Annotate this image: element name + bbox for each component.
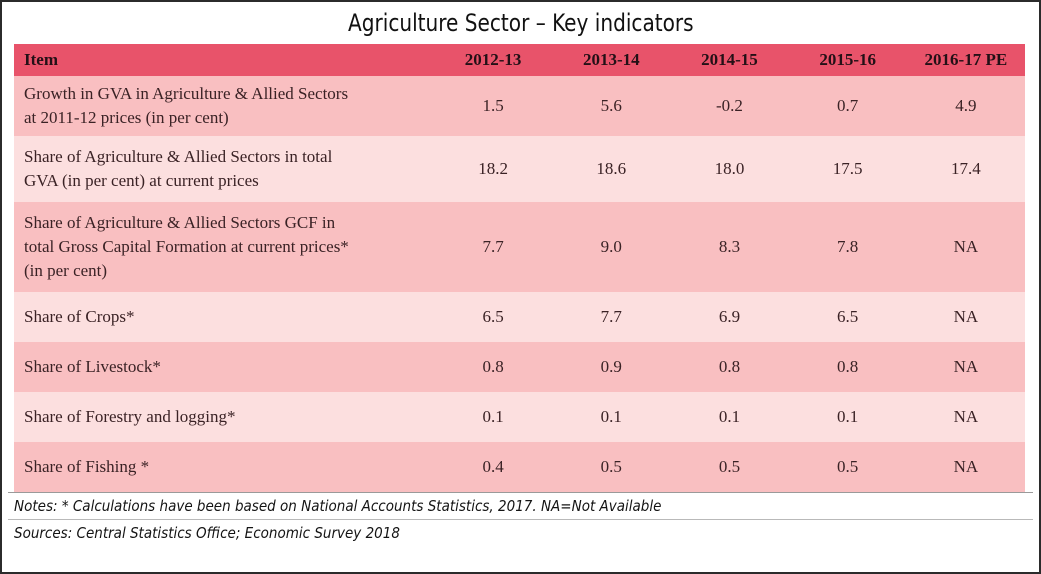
table-body: Growth in GVA in Agriculture & Allied Se… [14,76,1025,492]
notes-row: Notes: * Calculations have been based on… [8,492,1033,519]
cell-value: 0.9 [552,342,670,392]
table-row: Share of Agriculture & Allied Sectors GC… [14,202,1025,292]
row-label-line2: total Gross Capital Formation at current… [24,237,349,256]
table-wrapper: Item 2012-13 2013-14 2014-15 2015-16 201… [2,44,1039,492]
figure-container: Agriculture Sector – Key indicators Item… [0,0,1041,574]
column-header-2014-15: 2014-15 [670,44,788,76]
cell-value: 0.1 [789,392,907,442]
column-header-item: Item [14,44,434,76]
row-label-line2: GVA (in per cent) at current prices [24,171,259,190]
row-label: Share of Livestock* [14,342,434,392]
row-label-line3: (in per cent) [24,261,107,280]
table-row: Share of Crops* 6.5 7.7 6.9 6.5 NA [14,292,1025,342]
sources-text: Sources: Central Statistics Office; Econ… [14,524,400,542]
cell-value: 17.5 [789,136,907,202]
row-label: Share of Crops* [14,292,434,342]
cell-value: 0.5 [789,442,907,492]
table-header: Item 2012-13 2013-14 2014-15 2015-16 201… [14,44,1025,76]
table-row: Share of Forestry and logging* 0.1 0.1 0… [14,392,1025,442]
cell-value: 0.8 [789,342,907,392]
cell-value: 7.7 [552,292,670,342]
cell-value: 5.6 [552,76,670,136]
cell-value: 6.9 [670,292,788,342]
cell-value: 6.5 [434,292,552,342]
cell-value: 0.7 [789,76,907,136]
row-label: Share of Agriculture & Allied Sectors in… [14,136,434,202]
cell-value: 1.5 [434,76,552,136]
column-header-2015-16: 2015-16 [789,44,907,76]
cell-value: 0.8 [434,342,552,392]
column-header-2012-13: 2012-13 [434,44,552,76]
cell-value: 18.2 [434,136,552,202]
cell-value: NA [907,392,1025,442]
cell-value: 7.8 [789,202,907,292]
cell-value: NA [907,292,1025,342]
cell-value: 6.5 [789,292,907,342]
page-title: Agriculture Sector – Key indicators [348,9,694,37]
cell-value: -0.2 [670,76,788,136]
cell-value: 0.1 [552,392,670,442]
row-label: Share of Forestry and logging* [14,392,434,442]
cell-value: 0.1 [670,392,788,442]
cell-value: 0.5 [670,442,788,492]
cell-value: NA [907,342,1025,392]
row-label-line1: Share of Agriculture & Allied Sectors GC… [24,213,335,232]
row-label: Share of Fishing * [14,442,434,492]
column-header-2013-14: 2013-14 [552,44,670,76]
cell-value: 0.8 [670,342,788,392]
cell-value: 7.7 [434,202,552,292]
cell-value: 4.9 [907,76,1025,136]
cell-value: 0.1 [434,392,552,442]
cell-value: 0.4 [434,442,552,492]
cell-value: 8.3 [670,202,788,292]
cell-value: NA [907,202,1025,292]
table-row: Share of Agriculture & Allied Sectors in… [14,136,1025,202]
row-label: Share of Agriculture & Allied Sectors GC… [14,202,434,292]
cell-value: 18.6 [552,136,670,202]
title-bar: Agriculture Sector – Key indicators [2,2,1039,44]
notes-text: Notes: * Calculations have been based on… [14,497,661,515]
header-row: Item 2012-13 2013-14 2014-15 2015-16 201… [14,44,1025,76]
table-row: Share of Livestock* 0.8 0.9 0.8 0.8 NA [14,342,1025,392]
sources-row: Sources: Central Statistics Office; Econ… [8,519,1033,546]
cell-value: 9.0 [552,202,670,292]
column-header-2016-17-pe: 2016-17 PE [907,44,1025,76]
indicators-table: Item 2012-13 2013-14 2014-15 2015-16 201… [14,44,1025,492]
cell-value: 0.5 [552,442,670,492]
footnotes: Notes: * Calculations have been based on… [2,492,1039,546]
cell-value: NA [907,442,1025,492]
cell-value: 18.0 [670,136,788,202]
table-row: Growth in GVA in Agriculture & Allied Se… [14,76,1025,136]
row-label-line1: Growth in GVA in Agriculture & Allied Se… [24,84,348,103]
row-label-line2: at 2011-12 prices (in per cent) [24,108,229,127]
cell-value: 17.4 [907,136,1025,202]
table-row: Share of Fishing * 0.4 0.5 0.5 0.5 NA [14,442,1025,492]
row-label-line1: Share of Agriculture & Allied Sectors in… [24,147,332,166]
row-label: Growth in GVA in Agriculture & Allied Se… [14,76,434,136]
